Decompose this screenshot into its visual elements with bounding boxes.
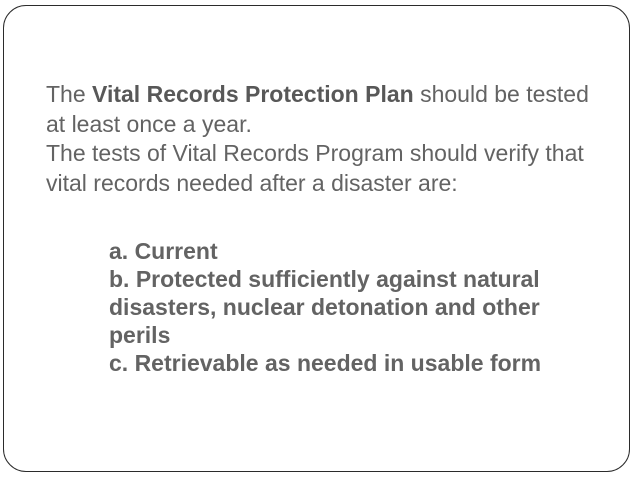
paragraph-line-4: vital records needed after a disaster ar… [46,169,638,199]
paragraph-line-1-suffix: should be tested [414,81,589,107]
paragraph-line-3: The tests of Vital Records Program shoul… [46,139,638,169]
list-item-continuation: disasters, nuclear detonation and other [109,293,629,321]
paragraph-line-1: The Vital Records Protection Plan should… [46,80,638,110]
vital-records-protection-plan-emphasis: Vital Records Protection Plan [92,81,414,107]
body-paragraph-block: The Vital Records Protection Plan should… [46,80,638,198]
list-item-continuation: perils [109,321,629,349]
paragraph-line-2: at least once a year. [46,110,638,140]
paragraph-line-1-prefix: The [46,81,92,107]
list-item: b. Protected sufficiently against natura… [109,265,629,293]
requirements-list: a. Current b. Protected sufficiently aga… [109,237,629,377]
slide-canvas: The Vital Records Protection Plan should… [0,0,638,479]
list-item: c. Retrievable as needed in usable form [109,349,629,377]
list-item: a. Current [109,237,629,265]
